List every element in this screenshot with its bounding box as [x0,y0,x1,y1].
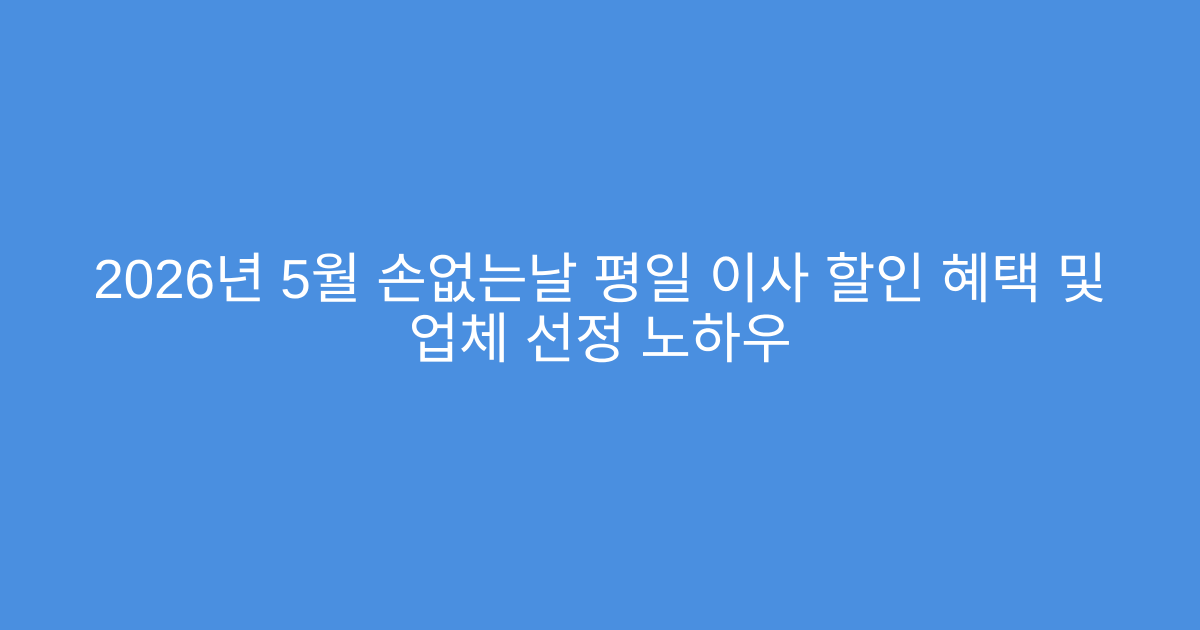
og-thumbnail-card: 2026년 5월 손없는날 평일 이사 할인 혜택 및 업체 선정 노하우 [0,0,1200,630]
page-title: 2026년 5월 손없는날 평일 이사 할인 혜택 및 업체 선정 노하우 [62,249,1138,369]
headline-block: 2026년 5월 손없는날 평일 이사 할인 혜택 및 업체 선정 노하우 [0,249,1200,369]
